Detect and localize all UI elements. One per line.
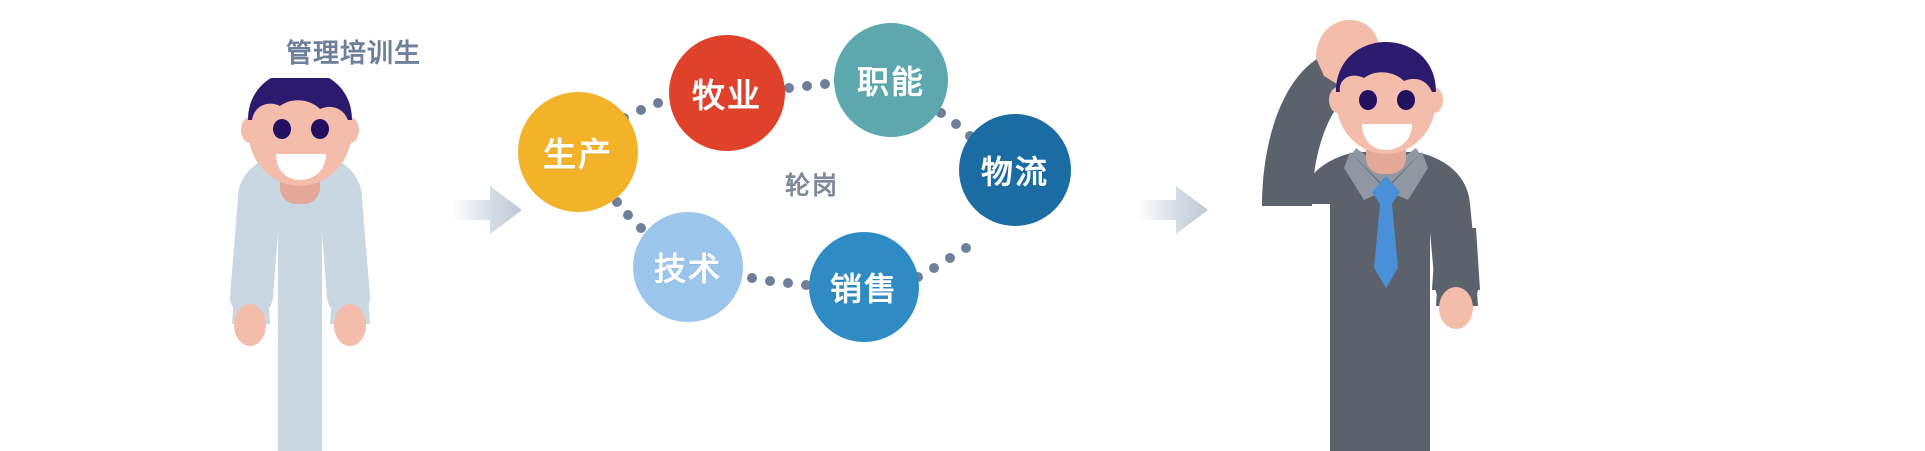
- trainee-ear-right: [341, 117, 359, 143]
- celebrating-manager-figure: [1240, 18, 1500, 451]
- rotation-node-logistics[interactable]: 物流: [959, 114, 1071, 226]
- connector-logistics-to-sales: [913, 243, 971, 282]
- rotation-node-sales-label: 销售: [830, 264, 898, 310]
- rotation-center-label: 轮岗: [785, 166, 839, 202]
- connector-sales-to-technology: [747, 273, 811, 290]
- rotation-node-animal-husbandry[interactable]: 牧业: [669, 35, 785, 151]
- rotation-node-logistics-label: 物流: [981, 147, 1049, 193]
- manager-eye-right: [1397, 90, 1415, 110]
- trainee-ear-left: [241, 117, 259, 143]
- rotation-node-production[interactable]: 生产: [518, 92, 638, 212]
- infographic-canvas: 管理培训生: [0, 0, 1925, 451]
- trainee-caption-label: 管理培训生: [286, 38, 446, 69]
- rotation-node-function[interactable]: 职能: [834, 23, 948, 137]
- right-flow-arrow-icon: [1138, 186, 1208, 234]
- trainee-eye-left: [273, 119, 291, 139]
- rotation-node-function-label: 职能: [857, 57, 925, 103]
- rotation-node-animal-husbandry-label: 牧业: [692, 69, 762, 117]
- trainee-eye-right: [311, 119, 329, 139]
- rotation-node-technology[interactable]: 技术: [633, 212, 743, 322]
- left-flow-arrow-icon: [452, 186, 522, 234]
- connector-technology-to-production: [612, 197, 646, 233]
- rotation-node-technology-label: 技术: [654, 244, 722, 290]
- rotation-node-production-label: 生产: [543, 128, 613, 176]
- rotation-node-sales[interactable]: 销售: [809, 232, 919, 342]
- casual-trainee-figure: [180, 78, 420, 451]
- manager-eye-left: [1359, 90, 1377, 110]
